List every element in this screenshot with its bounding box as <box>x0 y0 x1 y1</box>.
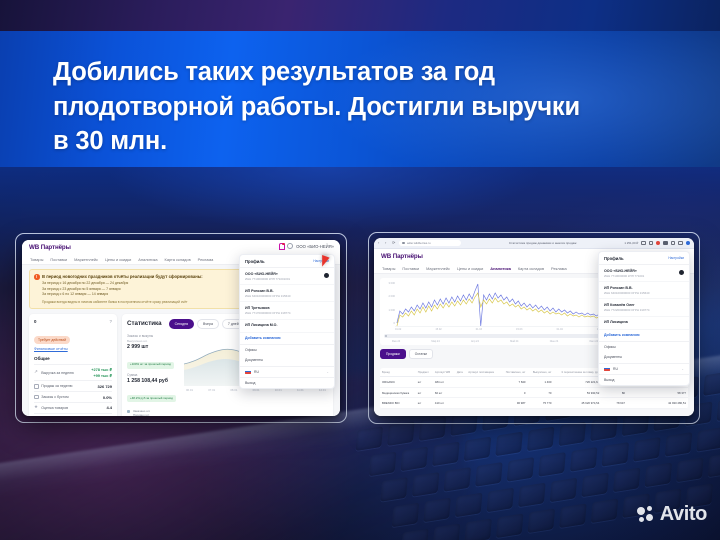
metric-badge: +100% шт за прошлый период <box>127 362 174 369</box>
cell-subject: шт <box>416 398 433 409</box>
revenue-value: +278 тыс ₽ <box>91 367 112 372</box>
cell-brand: BRENDO BIO <box>380 398 416 409</box>
chevron-down-icon: ⌄ <box>326 370 329 374</box>
stat-row: Отзывов покупателей 6 900 <box>34 413 112 416</box>
star-icon[interactable] <box>649 241 653 245</box>
col-transfer: К перечислению за товар, руб <box>553 368 601 377</box>
revenue-values: +278 тыс ₽ +99 тыс ₽ <box>91 367 112 378</box>
left-dashboard-window: WB Партнёры ООО «БИО-НЕЙЯ» Товары Постав… <box>22 240 340 416</box>
mini-tick: Мар 24 <box>431 340 439 343</box>
col-subject: Предмет <box>416 368 433 377</box>
logout-item[interactable]: Выход <box>599 375 689 385</box>
cell-date <box>455 387 466 398</box>
star-icon: ★ <box>34 405 39 410</box>
nav-item-reklama[interactable]: Реклама <box>551 266 567 271</box>
legend-swatch <box>127 410 130 413</box>
logout-item[interactable]: Выход <box>240 378 334 388</box>
profile-dropdown-header: Профиль Настройки <box>599 252 689 265</box>
stat-left: Продаж за неделю <box>34 384 73 389</box>
nav-item-marketplace[interactable]: Маркетплейс <box>426 266 450 271</box>
back-arrow-icon[interactable]: ‹ <box>378 241 382 245</box>
language-label: RU <box>613 367 678 371</box>
cell-transfer: 45 620 974,54 <box>553 398 601 409</box>
trend-icon: ↗ <box>34 370 39 375</box>
right-browser-window: ‹ › ⟳ seller.wildberries.ru Статистика п… <box>374 238 694 416</box>
x-tick: 06.01 <box>186 388 193 392</box>
language-selector[interactable]: RU ⌄ <box>599 363 689 375</box>
cell-delivered: 90 987 <box>500 398 527 409</box>
tab-vchera[interactable]: Вчера <box>197 319 219 329</box>
account-sub: ИНН 640100000000 ОГРН 315640 <box>245 294 329 298</box>
tab-segodnya[interactable]: Сегодня <box>169 319 194 329</box>
page-title: Добились таких результатов за год плодот… <box>53 55 693 159</box>
nav-item-karta[interactable]: Карта складов <box>165 257 191 262</box>
profile-account-item[interactable]: ИП Лисицина М.О. <box>240 320 334 333</box>
cell-logistics: 80 <box>601 387 627 398</box>
account-name: ИП Ковалёв Олег <box>604 303 684 307</box>
x-tick: 01.03 <box>476 328 482 331</box>
avito-wordmark: Avito <box>660 503 707 526</box>
stat-left: ★ Оценка товаров <box>34 405 68 410</box>
profile-account-item[interactable]: ИП Рогозин В.В. ИНН 640100000000 ОГРН 31… <box>240 285 334 302</box>
calendar-icon <box>34 395 39 400</box>
cell-article: 410 шт <box>433 398 455 409</box>
y-tick: 3 000 <box>384 282 395 285</box>
cell-logistics: 78 647 <box>601 398 627 409</box>
account-name: ООО «БИО-НЕЙЯ» <box>604 269 684 273</box>
share-icon[interactable] <box>678 241 682 245</box>
browser-actions: 1 251,00 ₽ <box>624 241 690 245</box>
profile-title: Профиль <box>245 259 265 264</box>
nav-item-analitika[interactable]: Аналитика <box>138 257 157 262</box>
profile-account-item[interactable]: ИП Третьяков ИНН 771700000000 ОГРН 31877… <box>240 302 334 319</box>
cell-date <box>455 377 466 388</box>
stat-value: 326 729 <box>98 384 112 389</box>
nav-item-ceny-skidki[interactable]: Цены и скидки <box>105 257 131 262</box>
left-app-header: WB Партнёры ООО «БИО-НЕЙЯ» <box>22 240 340 255</box>
statistics-title: Статистика <box>127 320 162 327</box>
summary-section-title: Общие <box>34 356 112 361</box>
gear-icon[interactable] <box>324 273 329 278</box>
tab-prodazhi[interactable]: Продажи <box>380 349 406 359</box>
profile-menu-item-offices[interactable]: Офисы <box>240 345 334 355</box>
statistics-metrics: Заказы и выкупы Выкуплено шт. 2 999 шт +… <box>127 334 179 416</box>
mini-tick: Май 24 <box>510 340 518 343</box>
nav-item-tovary[interactable]: Товары <box>382 266 395 271</box>
table-row[interactable]: BRENDO BIO шт 410 шт 90 987 75 770 45 62… <box>380 398 688 409</box>
summary-card-top: 0 ? <box>34 319 112 324</box>
legend-label: Заказано шт. Продано шт. <box>133 409 150 416</box>
col-brand: Бренд <box>380 368 416 377</box>
metric-badge: +48.2% руб за прошлый период <box>127 395 176 402</box>
profile-settings-link[interactable]: Настройки <box>668 256 684 260</box>
cell-article: 60 шт <box>433 387 455 398</box>
download-icon[interactable] <box>671 241 675 245</box>
mini-tick: Фев 24 <box>392 340 400 343</box>
cell-brand: Медицинская бумага <box>380 387 416 398</box>
nav-item-tovary[interactable]: Товары <box>30 257 43 262</box>
apps-icon[interactable] <box>663 241 667 245</box>
stat-label: Продаж за неделю <box>41 384 72 388</box>
gear-icon[interactable] <box>679 270 684 275</box>
summary-count: 0 <box>34 319 36 324</box>
nav-item-analitika[interactable]: Аналитика <box>490 266 511 271</box>
account-name: ИП Рогозин В.В. <box>245 289 329 293</box>
avito-dots-icon <box>637 506 655 524</box>
cell-commission: 58 377 <box>627 387 688 398</box>
stat-value: 4.4 <box>106 405 112 410</box>
account-sub: ИНН 640100000000 ОГРН 315640 <box>604 291 684 295</box>
forward-arrow-icon[interactable]: › <box>385 241 389 245</box>
profile-menu-item-documents[interactable]: Документы <box>240 355 334 365</box>
mini-tick: Июн 24 <box>550 340 559 343</box>
y-tick: 0 <box>384 322 395 325</box>
nav-item-postavki[interactable]: Поставки <box>50 257 67 262</box>
wb-logo: WB Партнёры <box>29 244 71 251</box>
hero-banner: Добились таких результатов за год плодот… <box>0 0 720 167</box>
nav-item-marketplace[interactable]: Маркетплейс <box>74 257 98 262</box>
metric-sublabel: Выкуплено шт. <box>127 339 179 343</box>
stat-row: Заказы с бустом 0.0% <box>34 391 112 402</box>
warning-icon: ! <box>34 274 40 280</box>
x-tick: 07.01 <box>208 388 215 392</box>
financial-reports-link[interactable]: Финансовые отчёты <box>34 347 112 351</box>
account-name: ООО «БИО-НЕЙЯ» <box>245 272 329 276</box>
bell-icon[interactable] <box>278 243 284 249</box>
cell-brand: ORGANIC <box>380 377 416 388</box>
cell-supplier <box>466 387 500 398</box>
account-chip[interactable]: ООО «БИО-НЕЙЯ» <box>296 244 334 249</box>
cell-subject: шт <box>416 377 433 388</box>
box-icon <box>34 384 39 389</box>
zoom-indicator[interactable]: 1 251,00 ₽ <box>624 241 638 245</box>
cell-supplier <box>466 377 500 388</box>
cell-bought: 1 460 <box>527 377 553 388</box>
account-name: ИП Рогозин В.В. <box>604 286 684 290</box>
flag-ru-icon <box>604 367 610 371</box>
profile-menu-item-documents[interactable]: Документы <box>599 352 689 362</box>
nav-item-postavki[interactable]: Поставки <box>402 266 419 271</box>
language-label: RU <box>254 370 323 374</box>
cell-commission: 42 930 280,51 <box>627 398 688 409</box>
profile-dropdown: Профиль Настройки ООО «БИО-НЕЙЯ» ИНН 771… <box>239 254 335 389</box>
x-tick: 01.02 <box>395 328 401 331</box>
profile-account-item[interactable]: ИП Лисицина <box>599 317 689 330</box>
cell-bought: 70 <box>527 387 553 398</box>
cell-transfer: 53 930,52 <box>553 387 601 398</box>
account-sub: ИНН 7710000000 КПП 771001001 <box>245 277 329 281</box>
gear-icon[interactable] <box>287 243 293 249</box>
cell-delivered: 0 <box>500 387 527 398</box>
address-bar[interactable]: seller.wildberries.ru <box>399 240 461 246</box>
tab-ostatki[interactable]: Остатки <box>409 349 433 359</box>
stat-label: Выручка за неделю <box>41 371 74 375</box>
account-sub: ИНН 7710000000 КПП 771001 <box>604 274 684 278</box>
profile-dropdown: Профиль Настройки ООО «БИО-НЕЙЯ» ИНН 771… <box>598 251 690 386</box>
profile-menu-item-offices[interactable]: Офисы <box>599 342 689 352</box>
x-tick: 01.04 <box>557 328 563 331</box>
cell-bought: 75 770 <box>527 398 553 409</box>
profile-title: Профиль <box>604 256 624 261</box>
col-supplier-article: Артикул поставщика <box>466 368 500 377</box>
col-delivered: Поставлено, шт <box>500 368 527 377</box>
stat-label: Заказы с бустом <box>41 395 68 399</box>
chart-y-axis: 3 000 2 000 1 000 0 <box>384 281 395 331</box>
stat-left: ↗ Выручка за неделю <box>34 370 74 375</box>
lock-icon <box>402 242 405 245</box>
account-sub: ИНН 771700000000 ОГРН 318774 <box>245 311 329 315</box>
account-name: ИП Лисицина <box>604 320 684 324</box>
y-tick: 1 000 <box>384 309 395 312</box>
puzzle-icon[interactable] <box>641 241 645 245</box>
stat-value: 0.0% <box>103 395 112 400</box>
left-header-actions: ООО «БИО-НЕЙЯ» <box>278 243 334 249</box>
shield-icon[interactable] <box>656 241 660 245</box>
x-tick: 15.02 <box>435 328 441 331</box>
wb-logo: WB Партнёры <box>381 253 423 260</box>
x-tick: 15.03 <box>516 328 522 331</box>
summary-card: 0 ? Требует действий Финансовые отчёты О… <box>29 314 117 416</box>
mini-tick: Апр 24 <box>471 340 479 343</box>
stat-label: Оценка товаров <box>41 406 68 410</box>
cell-subject: шт <box>416 387 433 398</box>
stat-left: Заказы с бустом <box>34 395 69 400</box>
add-company-link[interactable]: Добавить компанию <box>599 330 689 342</box>
tab-title[interactable]: Статистика продаж динамики и анализ прод… <box>464 241 621 245</box>
profile-account-item[interactable]: ООО «БИО-НЕЙЯ» ИНН 7710000000 КПП 771001… <box>240 268 334 285</box>
account-name: ИП Лисицина М.О. <box>245 323 329 327</box>
stat-row: Продаж за неделю 326 729 <box>34 380 112 391</box>
cell-delivered: 7 840 <box>500 377 527 388</box>
y-tick: 2 000 <box>384 295 395 298</box>
flag-ru-icon <box>245 370 251 374</box>
account-sub: ИНН 772200000000 ОГРН 319774 <box>604 308 684 312</box>
cell-supplier <box>466 398 500 409</box>
browser-toolbar: ‹ › ⟳ seller.wildberries.ru Статистика п… <box>374 238 694 249</box>
profile-account-item[interactable]: ИП Рогозин В.В. ИНН 640100000000 ОГРН 31… <box>599 282 689 299</box>
hero-top-strip <box>0 0 720 31</box>
col-bought: Выкуплено, шт <box>527 368 553 377</box>
cell-article: 484 шт <box>433 377 455 388</box>
avito-watermark: Avito <box>637 503 707 526</box>
help-icon[interactable]: ? <box>110 319 112 324</box>
table-row[interactable]: Медицинская бумага шт 60 шт 0 70 53 930,… <box>380 387 688 398</box>
revenue-value: +99 тыс ₽ <box>91 373 112 378</box>
metric-label: Заказы и выкупы <box>127 334 179 338</box>
profile-account-item[interactable]: ИП Ковалёв Олег ИНН 772200000000 ОГРН 31… <box>599 299 689 316</box>
metric-label: Сумма <box>127 373 179 377</box>
profile-avatar[interactable] <box>686 241 690 245</box>
mini-tick: Июл 24 <box>589 340 598 343</box>
url-text: seller.wildberries.ru <box>407 241 431 245</box>
metric-value: 2 999 шт <box>127 344 179 350</box>
cell-transfer: 726 221,64 <box>553 377 601 388</box>
stat-row: ★ Оценка товаров 4.4 <box>34 402 112 413</box>
cell-date <box>455 398 466 409</box>
profile-account-item[interactable]: ООО «БИО-НЕЙЯ» ИНН 7710000000 КПП 771001 <box>599 265 689 282</box>
nav-item-karta[interactable]: Карта складов <box>518 266 544 271</box>
nav-item-ceny-skidki[interactable]: Цены и скидки <box>457 266 483 271</box>
status-badge: Требует действий <box>34 336 70 343</box>
x-tick: 08.01 <box>230 388 237 392</box>
col-article-wb: Артикул WB <box>433 368 455 377</box>
chevron-down-icon: ⌄ <box>681 367 684 371</box>
account-name: ИП Третьяков <box>245 306 329 310</box>
language-selector[interactable]: RU ⌄ <box>240 366 334 378</box>
stat-row: ↗ Выручка за неделю +278 тыс ₽ +99 тыс ₽ <box>34 364 112 380</box>
add-company-link[interactable]: Добавить компанию <box>240 333 334 345</box>
reload-icon[interactable]: ⟳ <box>392 241 396 245</box>
metric-value: 1 258 108,44 руб <box>127 378 179 384</box>
legend-item: Заказано шт. Продано шт. <box>127 409 179 416</box>
nav-item-reklama[interactable]: Реклама <box>198 257 214 262</box>
col-date: Дата <box>455 368 466 377</box>
